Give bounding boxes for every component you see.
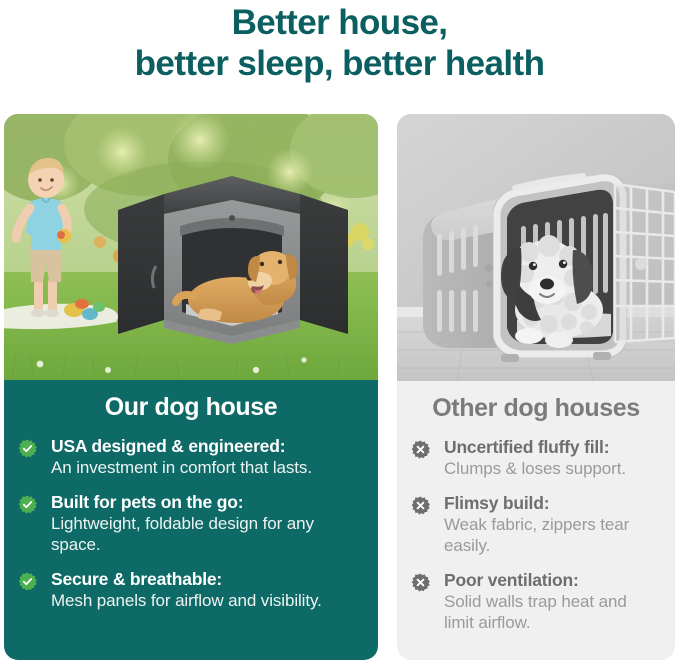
page-title: Better house, better sleep, better healt… [0,2,679,84]
left-bullet-list: USA designed & engineered: An investment… [18,436,364,611]
right-bullet-list: Uncertified fluffy fill: Clumps & loses … [411,437,661,633]
list-item-text: Built for pets on the go: Lightweight, f… [51,492,364,555]
our-dog-house-panel: Our dog house USA designed & engineered:… [4,380,378,621]
list-item: Flimsy build: Weak fabric, zippers tear … [411,493,661,556]
list-item-desc: Solid walls trap heat and limit airflow. [444,591,661,633]
list-item: Built for pets on the go: Lightweight, f… [18,492,364,555]
list-item-title: Uncertified fluffy fill: [444,437,661,458]
left-card-title: Our dog house [18,392,364,422]
x-badge-icon [411,573,430,592]
list-item-title: Flimsy build: [444,493,661,514]
check-badge-icon [18,439,37,458]
list-item-desc: An investment in comfort that lasts. [51,457,364,478]
right-card-title: Other dog houses [411,393,661,423]
list-item-text: Uncertified fluffy fill: Clumps & loses … [444,437,661,479]
x-badge-icon [411,496,430,515]
list-item-title: Poor ventilation: [444,570,661,591]
list-item-text: Flimsy build: Weak fabric, zippers tear … [444,493,661,556]
headline-line-1: Better house, [232,3,448,42]
our-dog-house-photo [4,114,378,380]
list-item-title: Built for pets on the go: [51,492,364,513]
comparison-infographic: Better house, better sleep, better healt… [0,0,679,663]
list-item: Uncertified fluffy fill: Clumps & loses … [411,437,661,479]
list-item-desc: Mesh panels for airflow and visibility. [51,590,364,611]
x-badge-icon [411,440,430,459]
check-badge-icon [18,572,37,591]
other-dog-houses-panel: Other dog houses Uncertified fluffy fill… [397,381,675,643]
list-item-title: USA designed & engineered: [51,436,364,457]
list-item-text: Poor ventilation: Solid walls trap heat … [444,570,661,633]
list-item-desc: Weak fabric, zippers tear easily. [444,514,661,556]
check-badge-icon [18,495,37,514]
list-item: Poor ventilation: Solid walls trap heat … [411,570,661,633]
other-dog-houses-photo [397,114,675,381]
other-dog-houses-card: Other dog houses Uncertified fluffy fill… [397,114,675,660]
list-item-title: Secure & breathable: [51,569,364,590]
list-item: USA designed & engineered: An investment… [18,436,364,478]
our-dog-house-card: Our dog house USA designed & engineered:… [4,114,378,660]
list-item-desc: Clumps & loses support. [444,458,661,479]
list-item-text: USA designed & engineered: An investment… [51,436,364,478]
list-item-desc: Lightweight, foldable design for any spa… [51,513,364,555]
list-item-text: Secure & breathable: Mesh panels for air… [51,569,364,611]
list-item: Secure & breathable: Mesh panels for air… [18,569,364,611]
headline-line-2: better sleep, better health [0,43,679,84]
